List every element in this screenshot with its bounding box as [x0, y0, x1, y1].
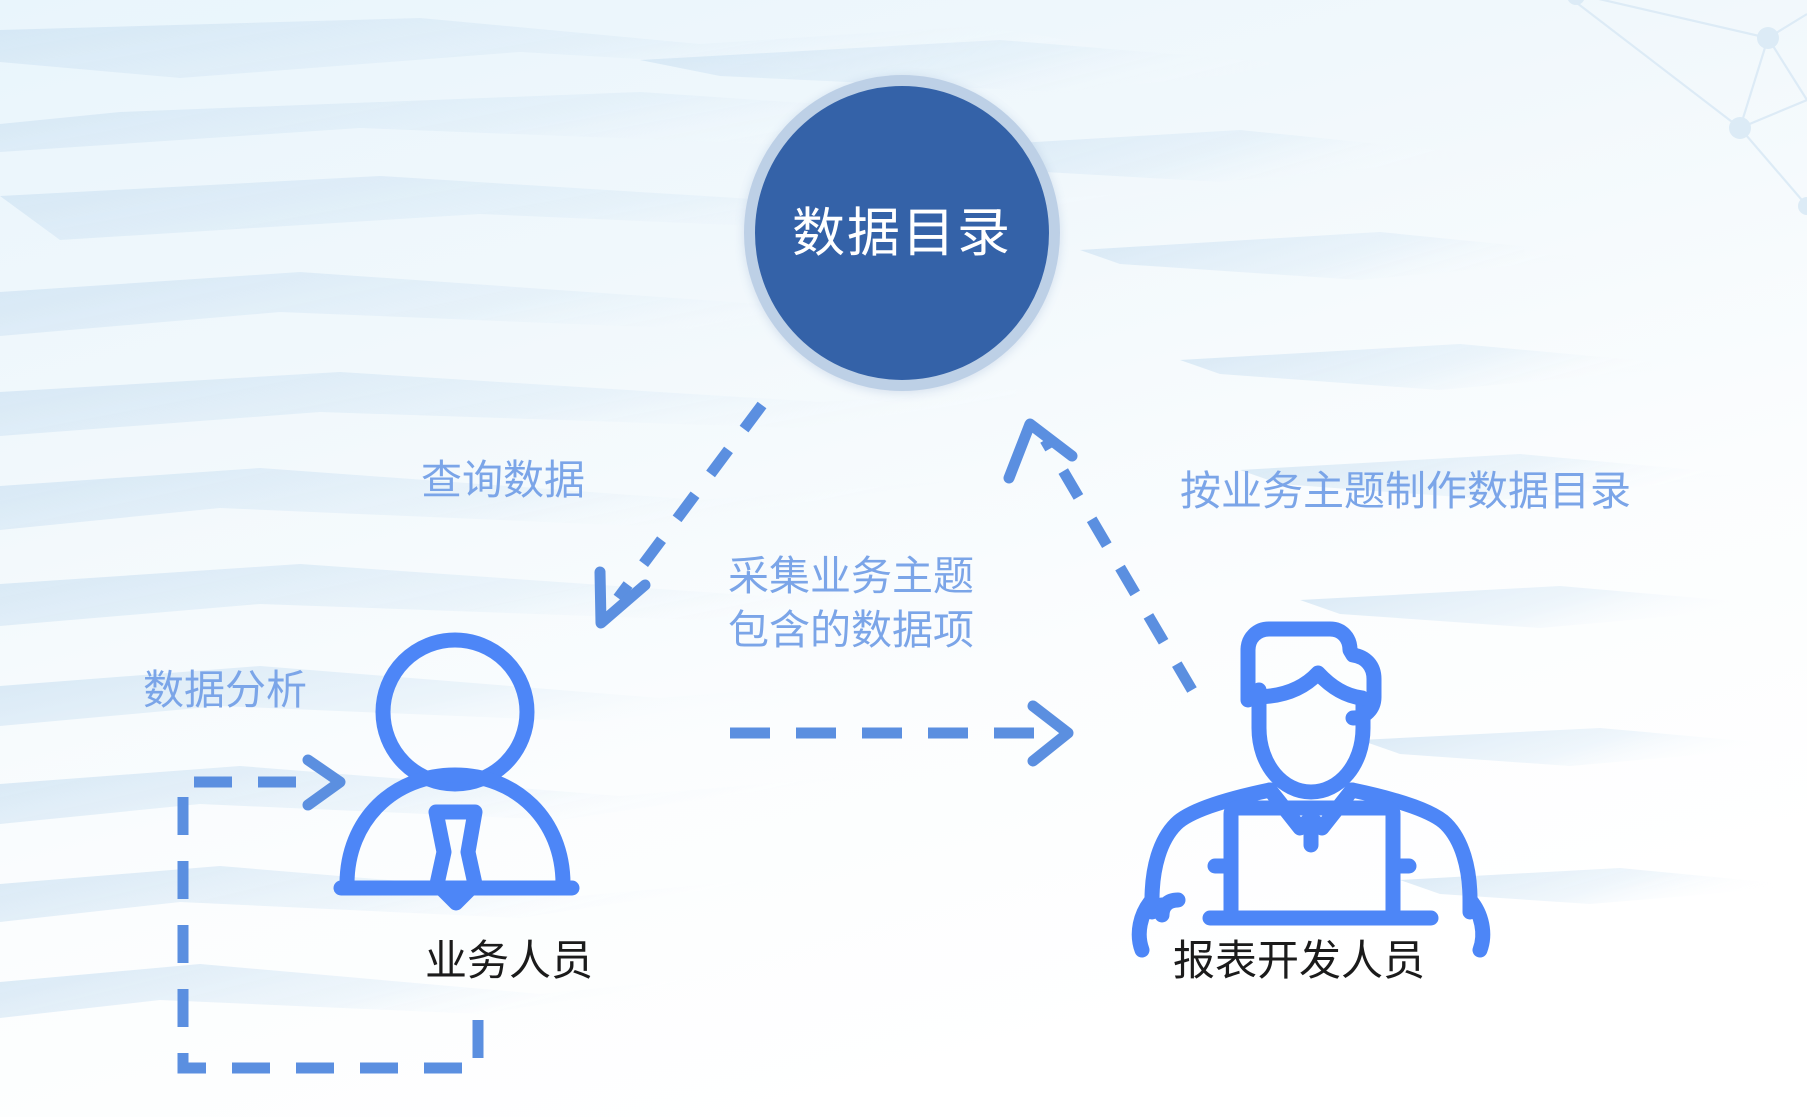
hub-node-label: 数据目录: [792, 207, 1012, 260]
actor-label-report-developer: 报表开发人员: [1173, 927, 1425, 988]
hub-node-data-catalog[interactable]: 数据目录: [744, 75, 1060, 391]
diagram-canvas: 数据目录 查询数据 数据分析 采集业务主题 包含的数据项 按业务主题制作数据目录…: [0, 0, 1807, 1117]
flow-label-query-data: 查询数据: [421, 453, 585, 507]
flow-label-data-analysis: 数据分析: [143, 663, 307, 717]
flow-label-collect-items-line2: 包含的数据项: [728, 603, 974, 657]
flow-label-collect-items-line1: 采集业务主题: [728, 549, 974, 603]
flow-label-build-catalog: 按业务主题制作数据目录: [1180, 464, 1631, 518]
flow-label-collect-items: 采集业务主题 包含的数据项: [728, 549, 974, 657]
actor-label-business-person: 业务人员: [425, 927, 593, 988]
